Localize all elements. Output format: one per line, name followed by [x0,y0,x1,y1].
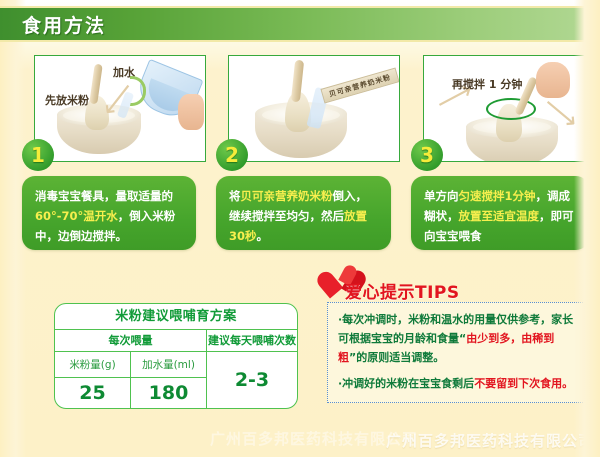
page-title: 食用方法 [22,11,106,38]
frequency-value: 2-3 [207,352,297,408]
step-1-instruction: 消毒宝宝餐具，量取适量的60°-70°温开水，倒入米粉中，边倒边搅拌。 [22,176,196,250]
step-2-illustration: 贝可亲营养奶米粉 [228,55,400,162]
step-3: ⟶ ⟶ 再搅拌 1 分钟 3 [411,55,595,162]
watermark: 广州百多邦医药科技有限公司 [386,430,594,451]
steps-row: ⟶ 先放米粉 加水 1 贝可亲营养奶米粉 [0,55,600,170]
tips-section: 爱心提示TIPS ·每次冲调时，米粉和温水的用量仅供参考，家长可根据宝宝的月龄和… [327,270,585,403]
hand-shape [178,94,204,130]
tips-item-2: ·冲调好的米粉在宝宝食剩后不要留到下次食用。 [338,375,574,394]
frequency-header: 建议每天喂哺次数 [207,330,297,352]
per-feed-subheaders: 米粉量(g) 加水量(ml) [55,352,206,378]
feeding-table-body: 每次喂量 米粉量(g) 加水量(ml) 25 180 建议每天喂哺次数 2-3 [55,330,297,408]
feeding-table-title: 米粉建议喂哺育方案 [55,304,297,330]
value-water: 180 [131,378,206,408]
frequency-group: 建议每天喂哺次数 2-3 [207,330,297,408]
step-1-caption-1: 加水 [113,64,135,80]
step-2: 贝可亲营养奶米粉 2 [216,55,400,162]
step-3-caption-0: 再搅拌 1 分钟 [452,76,522,92]
step-1-caption-0: 先放米粉 [45,92,89,108]
page-header: 食用方法 [0,6,600,42]
feeding-table: 米粉建议喂哺育方案 每次喂量 米粉量(g) 加水量(ml) 25 180 建议每… [54,303,298,409]
per-feed-group: 每次喂量 米粉量(g) 加水量(ml) 25 180 [55,330,207,408]
tips-item-1: ·每次冲调时，米粉和温水的用量仅供参考，家长可根据宝宝的月龄和食量“由少到多，由… [338,311,574,368]
step-3-number-badge: 3 [411,139,443,171]
tips-box: ·每次冲调时，米粉和温水的用量仅供参考，家长可根据宝宝的月龄和食量“由少到多，由… [327,302,585,403]
stir-circle-icon [486,98,536,120]
column-header-rice-powder: 米粉量(g) [55,352,131,377]
instruction-bubbles: 消毒宝宝餐具，量取适量的60°-70°温开水，倒入米粉中，边倒边搅拌。 将贝可亲… [0,176,600,256]
step-2-number-badge: 2 [216,139,248,171]
step-3-illustration: ⟶ ⟶ 再搅拌 1 分钟 [423,55,595,162]
tips-title: 爱心提示TIPS [345,278,460,303]
value-rice-powder: 25 [55,378,131,408]
tips-header: 爱心提示TIPS [327,270,585,300]
step-2-instruction: 将贝可亲营养奶米粉倒入，继续搅拌至均匀，然后放置30秒。 [216,176,391,250]
page-background: 食用方法 ⟶ 先放米粉 加水 [0,0,600,457]
step-3-instruction: 单方向匀速搅拌1分钟，调成糊状，放置至适宜温度，即可向宝宝喂食 [411,176,589,250]
column-header-water: 加水量(ml) [131,352,206,377]
step-1-number-badge: 1 [22,139,54,171]
product-package-label: 贝可亲营养奶米粉 [320,68,399,104]
step-1-illustration: ⟶ 先放米粉 加水 [34,55,206,162]
per-feed-values: 25 180 [55,378,206,408]
step-1: ⟶ 先放米粉 加水 1 [22,55,206,162]
per-feed-header: 每次喂量 [55,330,206,352]
